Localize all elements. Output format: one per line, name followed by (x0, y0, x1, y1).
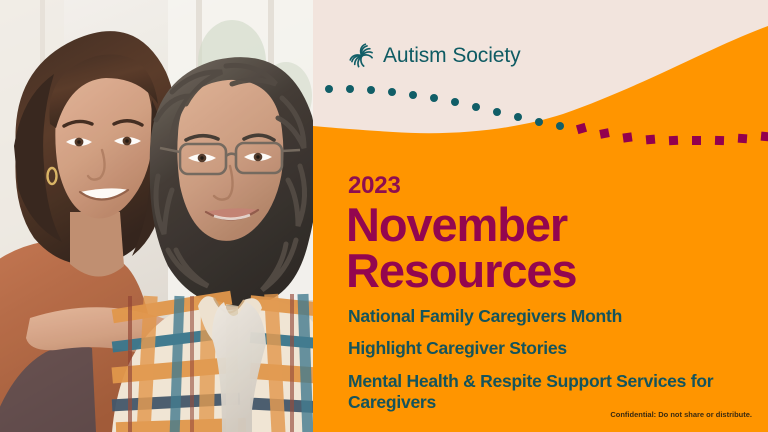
pattern-square (715, 136, 724, 145)
title-line-2: Resources (346, 248, 576, 294)
pattern-dot (514, 113, 522, 121)
content-panel: Autism Society 2023 November Resources N… (313, 0, 768, 432)
pattern-square (576, 123, 587, 134)
pattern-dot (535, 118, 543, 126)
autism-society-pinwheel-icon (348, 42, 376, 70)
pattern-dot (367, 86, 375, 94)
list-item: Mental Health & Respite Support Services… (348, 371, 748, 414)
pattern-dot (346, 85, 354, 93)
pattern-square (669, 136, 678, 145)
list-item: National Family Caregivers Month (348, 306, 748, 327)
year-label: 2023 (348, 172, 401, 200)
pattern-dot (409, 91, 417, 99)
pattern-dot (493, 108, 501, 116)
pattern-dot (472, 103, 480, 111)
brand-name: Autism Society (383, 44, 520, 68)
pattern-dot (556, 122, 564, 130)
pattern-dot (388, 88, 396, 96)
autism-society-logo[interactable]: Autism Society (348, 42, 520, 70)
list-item: Highlight Caregiver Stories (348, 338, 748, 359)
pattern-square (738, 134, 748, 144)
pattern-dot (430, 94, 438, 102)
pattern-dot (325, 85, 333, 93)
pattern-square (692, 136, 701, 145)
pattern-square (622, 132, 632, 142)
pattern-square (599, 128, 610, 139)
pattern-dot (451, 98, 459, 106)
pattern-square (761, 132, 768, 142)
page-title: November Resources (346, 202, 576, 294)
confidential-notice: Confidential: Do not share or distribute… (610, 410, 752, 419)
pattern-square (646, 135, 656, 145)
topics-list: National Family Caregivers Month Highlig… (348, 306, 748, 413)
caregivers-photo (0, 0, 313, 432)
dot-square-pattern (313, 0, 768, 160)
title-line-1: November (346, 202, 576, 248)
flyer-canvas: Autism Society 2023 November Resources N… (0, 0, 768, 432)
